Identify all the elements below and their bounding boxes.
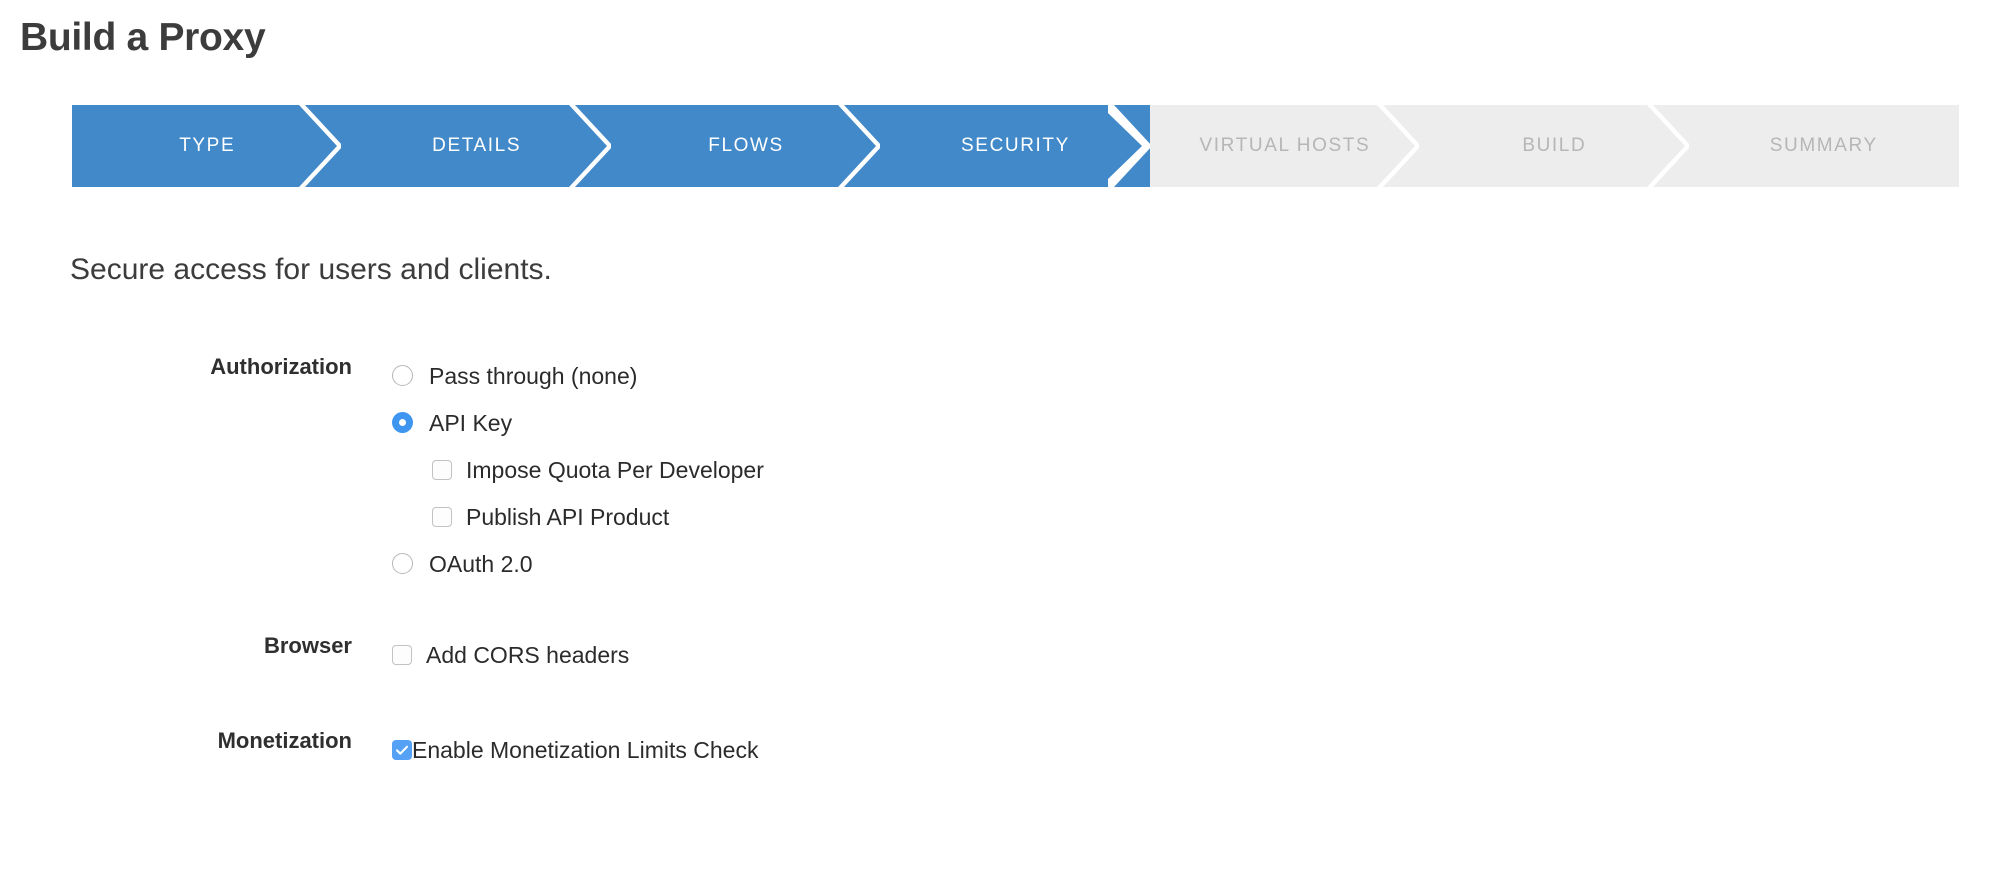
page-title: Build a Proxy	[20, 12, 265, 64]
field-label-browser: Browser	[0, 631, 352, 661]
wizard-step-label: SUMMARY	[1770, 135, 1878, 157]
wizard-step-label: SECURITY	[961, 135, 1070, 157]
radio-icon-api-key[interactable]	[392, 412, 413, 433]
field-control-authorization: Pass through (none) API Key Impose Quota…	[352, 352, 2016, 587]
option-label: Add CORS headers	[426, 640, 629, 670]
option-pass-through[interactable]: Pass through (none)	[392, 352, 2016, 399]
field-row-monetization: Monetization Enable Monetization Limits …	[0, 726, 2016, 773]
radio-icon-pass-through[interactable]	[392, 365, 413, 386]
chevron-right-icon	[299, 105, 343, 187]
wizard-step-label: BUILD	[1522, 135, 1586, 157]
field-control-monetization: Enable Monetization Limits Check	[352, 726, 2016, 773]
option-publish-api-product[interactable]: Publish API Product	[392, 493, 2016, 540]
field-label-authorization: Authorization	[0, 352, 352, 382]
option-label: Enable Monetization Limits Check	[412, 735, 758, 765]
chevron-right-icon	[1377, 105, 1421, 187]
checkbox-icon-publish-api-product[interactable]	[432, 507, 452, 527]
wizard-step-virtual-hosts[interactable]: VIRTUAL HOSTS	[1150, 105, 1420, 187]
checkbox-icon-add-cors-headers[interactable]	[392, 645, 412, 665]
wizard-step-label: VIRTUAL HOSTS	[1200, 135, 1371, 157]
wizard-step-build[interactable]: BUILD	[1419, 105, 1689, 187]
field-control-browser: Add CORS headers	[352, 631, 2016, 678]
option-label: API Key	[429, 408, 512, 438]
option-impose-quota-per-developer[interactable]: Impose Quota Per Developer	[392, 446, 2016, 493]
radio-icon-oauth-2[interactable]	[392, 553, 413, 574]
security-form: Authorization Pass through (none) API Ke…	[0, 352, 2016, 773]
option-label: Publish API Product	[466, 502, 669, 532]
spacer	[0, 587, 2016, 631]
wizard-step-bar: TYPE DETAILS FLOWS SECURITY	[72, 105, 1959, 187]
field-label-monetization: Monetization	[0, 726, 352, 756]
section-description: Secure access for users and clients.	[70, 250, 552, 290]
checkbox-icon-impose-quota[interactable]	[432, 460, 452, 480]
wizard-step-details[interactable]: DETAILS	[341, 105, 611, 187]
option-label: Pass through (none)	[429, 361, 637, 391]
chevron-right-icon	[838, 105, 882, 187]
field-row-browser: Browser Add CORS headers	[0, 631, 2016, 678]
wizard-step-summary[interactable]: SUMMARY	[1689, 105, 1959, 187]
wizard-step-label: FLOWS	[708, 135, 784, 157]
option-api-key[interactable]: API Key	[392, 399, 2016, 446]
chevron-right-icon	[569, 105, 613, 187]
chevron-right-icon	[1108, 105, 1152, 187]
option-enable-monetization-limits-check[interactable]: Enable Monetization Limits Check	[392, 726, 2016, 773]
option-add-cors-headers[interactable]: Add CORS headers	[392, 631, 2016, 678]
option-label: Impose Quota Per Developer	[466, 455, 764, 485]
field-row-authorization: Authorization Pass through (none) API Ke…	[0, 352, 2016, 587]
wizard-step-flows[interactable]: FLOWS	[611, 105, 881, 187]
wizard-step-label: TYPE	[179, 135, 235, 157]
chevron-right-icon	[1647, 105, 1691, 187]
wizard-step-type[interactable]: TYPE	[72, 105, 342, 187]
wizard-step-security[interactable]: SECURITY	[880, 105, 1150, 187]
checkbox-icon-enable-monetization[interactable]	[392, 740, 412, 760]
wizard-step-label: DETAILS	[432, 135, 521, 157]
option-oauth-2[interactable]: OAuth 2.0	[392, 540, 2016, 587]
spacer	[0, 678, 2016, 726]
option-label: OAuth 2.0	[429, 549, 533, 579]
